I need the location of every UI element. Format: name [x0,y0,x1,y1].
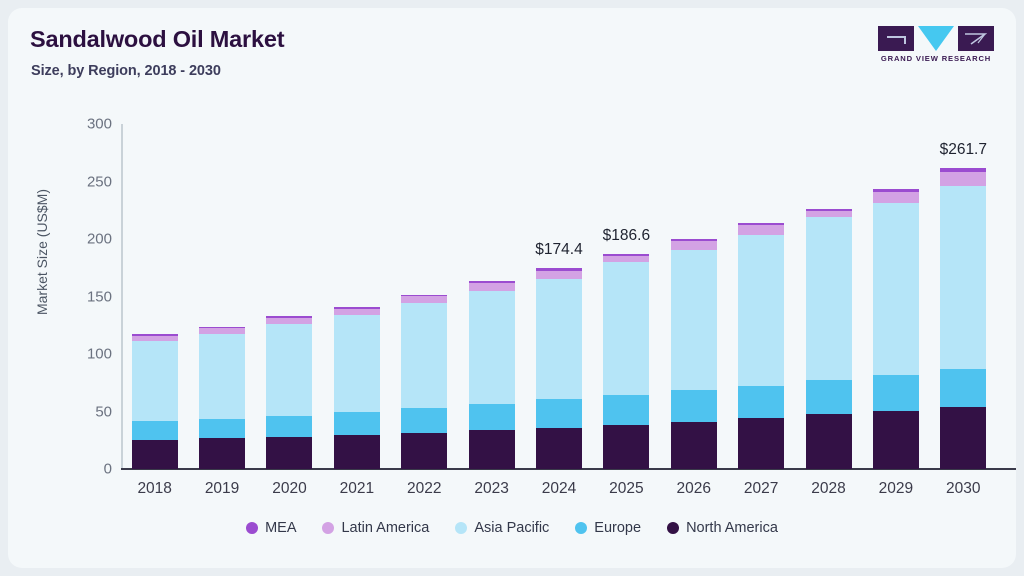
y-axis-tick-label: 0 [42,461,112,478]
legend-color-swatch [322,522,334,534]
bar-segment[interactable] [873,203,919,376]
bar-segment[interactable] [536,271,582,279]
bar-group[interactable] [873,189,919,469]
y-axis-tick-label: 300 [42,116,112,133]
bar-segment[interactable] [266,324,312,416]
legend-color-swatch [455,522,467,534]
y-axis-tick-label: 100 [42,346,112,363]
bar-group[interactable] [806,209,852,469]
logo-wordmark: GRAND VIEW RESEARCH [878,54,994,63]
bar-value-label: $261.7 [903,141,1016,159]
bar-segment[interactable] [671,250,717,390]
bar-segment[interactable] [940,369,986,407]
bar-segment[interactable] [401,408,447,433]
bar-segment[interactable] [401,433,447,469]
bar-group[interactable] [266,316,312,469]
bar-segment[interactable] [873,375,919,411]
legend-color-swatch [246,522,258,534]
bar-segment[interactable] [199,328,245,333]
bar-segment[interactable] [199,419,245,439]
logo-v-triangle-icon [918,26,954,51]
bar-group[interactable] [132,334,178,469]
legend-label: North America [686,520,778,536]
y-axis-ticks: 050100150200250300 [36,124,112,469]
bar-group[interactable]: $174.4 [536,268,582,469]
bar-segment[interactable] [132,336,178,341]
y-axis-tick-label: 250 [42,173,112,190]
y-axis-tick-label: 150 [42,288,112,305]
bar-segment[interactable] [671,239,717,241]
bar-segment[interactable] [603,395,649,425]
y-axis-tick-label: 50 [42,403,112,420]
bar-segment[interactable] [199,438,245,469]
bar-segment[interactable] [873,189,919,192]
bar-segment[interactable] [199,334,245,419]
logo-r-block [958,26,994,51]
bar-segment[interactable] [469,291,515,404]
bar-group[interactable]: $186.6 [603,254,649,469]
bar-segment[interactable] [334,315,380,412]
bar-segment[interactable] [940,172,986,186]
bar-segment[interactable] [469,281,515,283]
bar-group[interactable] [334,307,380,469]
bar-segment[interactable] [603,256,649,262]
bar-segment[interactable] [536,268,582,270]
bar-segment[interactable] [738,418,784,469]
bar-segment[interactable] [940,407,986,469]
legend-label: Asia Pacific [474,520,549,536]
bar-group[interactable] [671,239,717,469]
bar-segment[interactable] [266,316,312,318]
bar-segment[interactable] [266,437,312,469]
bar-group[interactable] [199,327,245,469]
bar-segment[interactable] [603,262,649,395]
bar-segment[interactable] [469,404,515,430]
bar-segment[interactable] [940,168,986,172]
legend-color-swatch [575,522,587,534]
legend-item[interactable]: Latin America [322,520,429,536]
bar-segment[interactable] [738,235,784,386]
bar-segment[interactable] [132,421,178,439]
legend-label: Latin America [341,520,429,536]
bar-segment[interactable] [671,241,717,250]
bar-segment[interactable] [536,428,582,469]
bar-segment[interactable] [266,318,312,324]
legend-item[interactable]: North America [667,520,778,536]
bar-segment[interactable] [940,186,986,369]
bar-segment[interactable] [469,283,515,290]
bar-segment[interactable] [873,192,919,203]
bar-segment[interactable] [536,399,582,427]
bar-segment[interactable] [132,341,178,422]
legend-item[interactable]: Asia Pacific [455,520,549,536]
bar-segment[interactable] [334,309,380,315]
bar-group[interactable] [469,281,515,469]
page-subtitle: Size, by Region, 2018 - 2030 [31,63,221,79]
bar-segment[interactable] [738,386,784,418]
y-axis-tick-label: 200 [42,231,112,248]
bar-segment[interactable] [334,412,380,435]
bar-segment[interactable] [334,307,380,309]
bar-segment[interactable] [806,211,852,217]
legend-item[interactable]: Europe [575,520,641,536]
bar-segment[interactable] [738,223,784,226]
grand-view-research-logo: GRAND VIEW RESEARCH [878,26,994,66]
bar-segment[interactable] [334,435,380,469]
bar-segment[interactable] [132,334,178,335]
logo-g-icon [887,36,906,44]
legend-color-swatch [667,522,679,534]
bar-segment[interactable] [873,411,919,469]
bar-segment[interactable] [469,430,515,469]
bar-segment[interactable] [738,225,784,235]
bar-segment[interactable] [401,303,447,408]
logo-g-block [878,26,914,51]
bar-segment[interactable] [603,254,649,256]
bar-group[interactable] [738,223,784,469]
bar-segment[interactable] [806,217,852,380]
bar-segment[interactable] [806,209,852,211]
chart-legend: MEALatin AmericaAsia PacificEuropeNorth … [8,520,1016,536]
legend-label: Europe [594,520,641,536]
bar-segment[interactable] [401,295,447,297]
legend-label: MEA [265,520,296,536]
bar-segment[interactable] [199,327,245,328]
bar-segment[interactable] [806,380,852,414]
page-title: Sandalwood Oil Market [30,26,284,53]
bar-segment[interactable] [671,422,717,469]
bar-group[interactable] [401,295,447,469]
bar-segment[interactable] [671,390,717,422]
x-axis-tick-label: 2030 [918,480,1008,498]
legend-item[interactable]: MEA [246,520,296,536]
plot-area: $174.4$186.6$261.7 [121,124,997,469]
bar-segment[interactable] [603,425,649,469]
bar-segment[interactable] [132,440,178,469]
bar-group[interactable]: $261.7 [940,168,986,469]
logo-r-arrow-icon [965,33,987,45]
bar-value-label: $186.6 [566,227,686,245]
bar-segment[interactable] [806,414,852,469]
bar-segment[interactable] [266,416,312,437]
bar-segment[interactable] [536,279,582,400]
chart-card: Sandalwood Oil Market Size, by Region, 2… [8,8,1016,568]
bar-segment[interactable] [401,296,447,303]
